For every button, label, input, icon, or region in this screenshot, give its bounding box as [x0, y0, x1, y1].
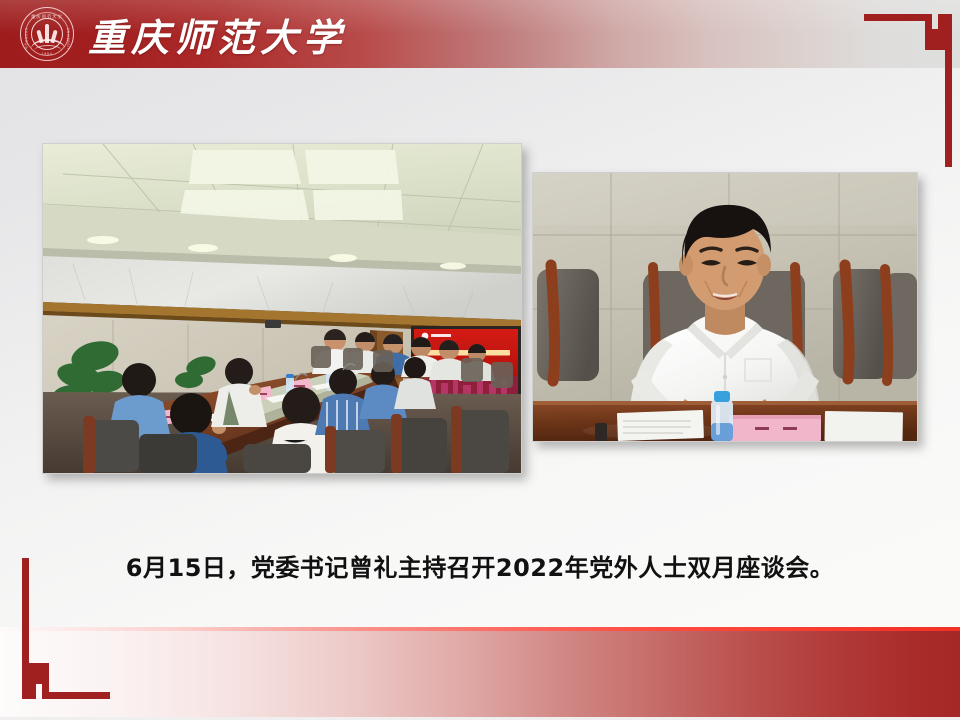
corner-ornament-top-right-icon: [864, 6, 960, 179]
university-seal-icon: 重庆师范大学 CHONGQING UNIVERSITY 1954: [20, 7, 74, 61]
seal-text-top: 重庆师范大学: [21, 14, 73, 20]
slide-caption: 6月15日，党委书记曾礼主持召开2022年党外人士双月座谈会。: [0, 548, 960, 583]
seal-text-bottom: 1954: [21, 52, 73, 56]
footer-accent-line: [0, 627, 960, 631]
photo-speaker-portrait[interactable]: [532, 172, 918, 442]
university-name-title: 重庆师范大学: [88, 4, 346, 64]
header-banner: 重庆师范大学 CHONGQING UNIVERSITY 1954 重庆师范大学: [0, 0, 960, 68]
photo-meeting-room[interactable]: [42, 143, 522, 474]
corner-ornament-bottom-left-icon: [14, 551, 110, 712]
seal-text-right: UNIVERSITY: [66, 28, 70, 52]
seal-text-left: CHONGQING: [24, 28, 28, 53]
presentation-slide: 重庆师范大学 CHONGQING UNIVERSITY 1954 重庆师范大学: [0, 0, 960, 720]
footer-gradient-band: [0, 627, 960, 720]
